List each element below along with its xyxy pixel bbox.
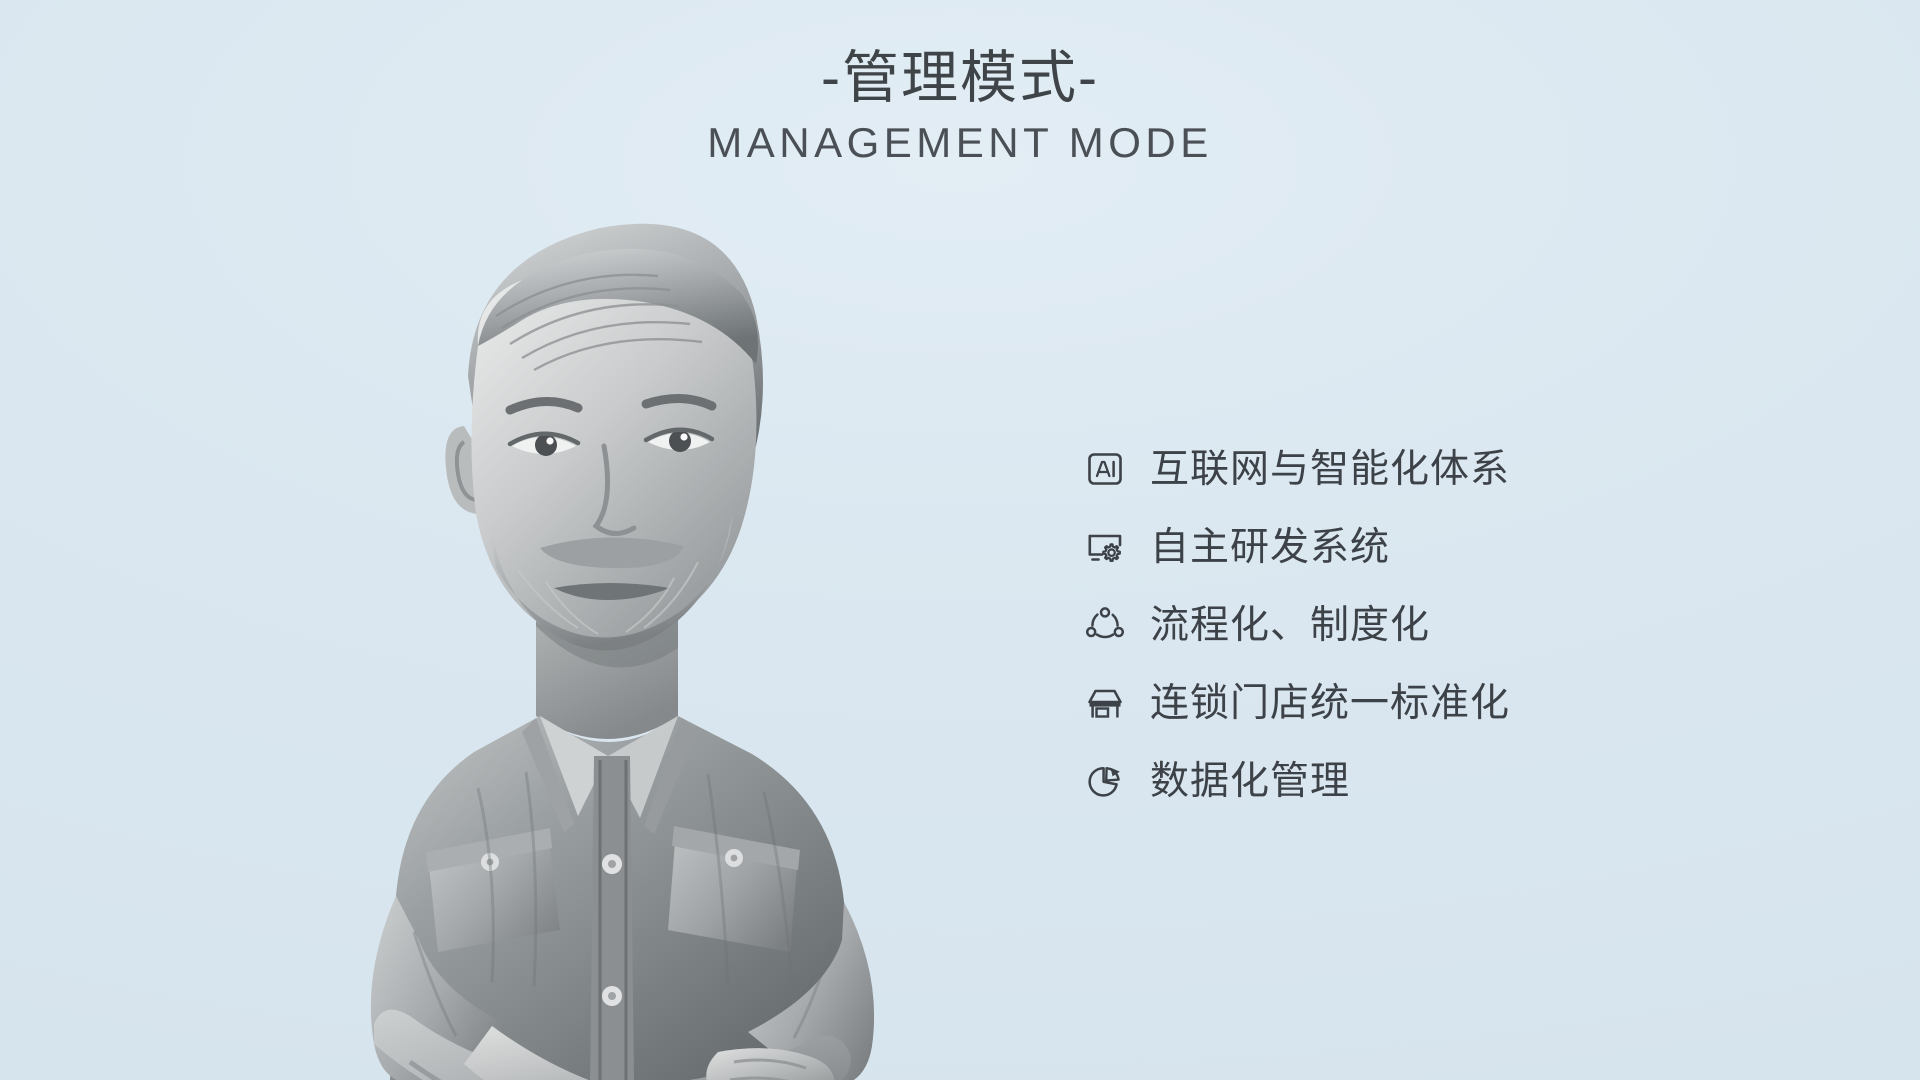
storefront-icon [1082,680,1128,726]
feature-label: 互联网与智能化体系 [1150,450,1510,489]
page-subtitle: MANAGEMENT MODE [0,120,1920,166]
feature-label: 自主研发系统 [1150,528,1390,567]
portrait-photo [278,196,978,1080]
feature-item[interactable]: 自主研发系统 [1082,508,1822,586]
slide-canvas: -管理模式- MANAGEMENT MODE [0,0,1920,1080]
feature-list: 互联网与智能化体系 自主研发系统 [1082,430,1822,820]
feature-label: 流程化、制度化 [1150,606,1430,645]
page-title: -管理模式- [0,46,1920,112]
monitor-gear-icon [1082,524,1128,570]
process-nodes-icon [1082,602,1128,648]
portrait-illustration [278,196,978,1080]
feature-item[interactable]: 连锁门店统一标准化 [1082,664,1822,742]
feature-item[interactable]: 互联网与智能化体系 [1082,430,1822,508]
pie-chart-icon [1082,758,1128,804]
feature-label: 数据化管理 [1150,762,1350,801]
feature-item[interactable]: 数据化管理 [1082,742,1822,820]
header-block: -管理模式- MANAGEMENT MODE [0,46,1920,166]
ai-badge-icon [1082,446,1128,492]
feature-item[interactable]: 流程化、制度化 [1082,586,1822,664]
feature-label: 连锁门店统一标准化 [1150,684,1510,723]
